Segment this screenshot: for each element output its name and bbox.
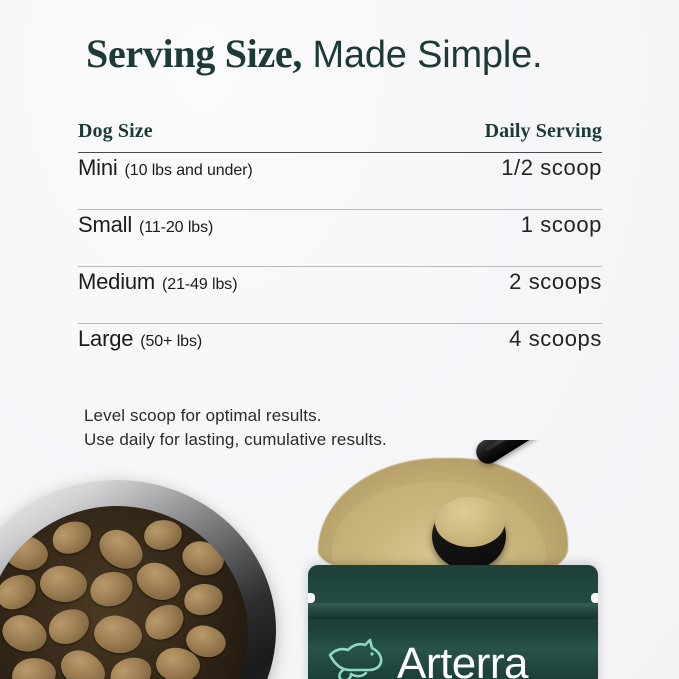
title-subtext: Made Simple. [302,34,542,76]
bowl-interior [0,506,248,679]
kibble-piece [106,652,157,679]
row-weight-range: (11-20 lbs) [139,219,213,237]
dog-logo-icon [326,637,388,679]
row-weight-range: (10 lbs and under) [125,162,253,180]
kibble-piece [43,602,95,650]
row-weight-range: (50+ lbs) [140,333,202,351]
kibble-piece [142,518,184,553]
serving-size-infographic: Serving Size, Made Simple. Dog Size Dail… [0,0,679,679]
row-weight-range: (21-49 lbs) [162,276,237,294]
table-row: Large (50+ lbs) 4 scoops [78,324,602,380]
usage-note-line: Level scoop for optimal results. [84,404,387,428]
column-header-dog-size: Dog Size [78,120,153,143]
brand-name: Arterra [397,645,528,679]
kibble-piece [10,656,57,679]
kibble-piece [1,532,51,574]
row-size-cell: Large (50+ lbs) [78,326,202,352]
row-size-cell: Small (11-20 lbs) [78,212,213,238]
kibble-piece [91,612,145,657]
row-serving-value: 4 scoops [509,326,602,352]
row-size-label: Small [78,212,132,238]
table-row: Mini (10 lbs and under) 1/2 scoop [78,153,602,209]
kibble-piece [38,564,89,605]
table-row: Medium (21-49 lbs) 2 scoops [78,267,602,323]
pouch-tear-notch-left [308,593,315,603]
scoop-powder-fill [435,497,505,547]
product-photography: Arterra [0,440,679,679]
column-header-daily-serving: Daily Serving [485,120,602,143]
kibble-bowl-image [0,480,276,679]
pouch-seal [308,603,598,619]
table-header-row: Dog Size Daily Serving [78,120,602,152]
row-size-label: Mini [78,155,118,181]
title-emphasis: Serving Size, [86,31,302,76]
serving-size-table: Dog Size Daily Serving Mini (10 lbs and … [78,120,602,380]
row-serving-value: 2 scoops [509,269,602,295]
kibble-piece [181,580,226,618]
row-size-label: Large [78,326,133,352]
row-size-label: Medium [78,269,155,295]
row-size-cell: Mini (10 lbs and under) [78,155,253,181]
kibble-piece [139,597,191,646]
kibble-piece [0,568,42,616]
kibble-piece [48,516,97,560]
page-title: Serving Size, Made Simple. [86,34,542,74]
brand-lockup: Arterra [326,637,528,679]
row-serving-value: 1/2 scoop [501,155,602,181]
kibble-piece [0,609,52,657]
kibble-piece [178,536,228,580]
table-row: Small (11-20 lbs) 1 scoop [78,210,602,266]
pouch-tear-notch-right [591,593,598,603]
row-size-cell: Medium (21-49 lbs) [78,269,237,295]
kibble-piece [86,567,137,612]
product-pouch: Arterra [308,565,598,679]
row-serving-value: 1 scoop [521,212,602,238]
